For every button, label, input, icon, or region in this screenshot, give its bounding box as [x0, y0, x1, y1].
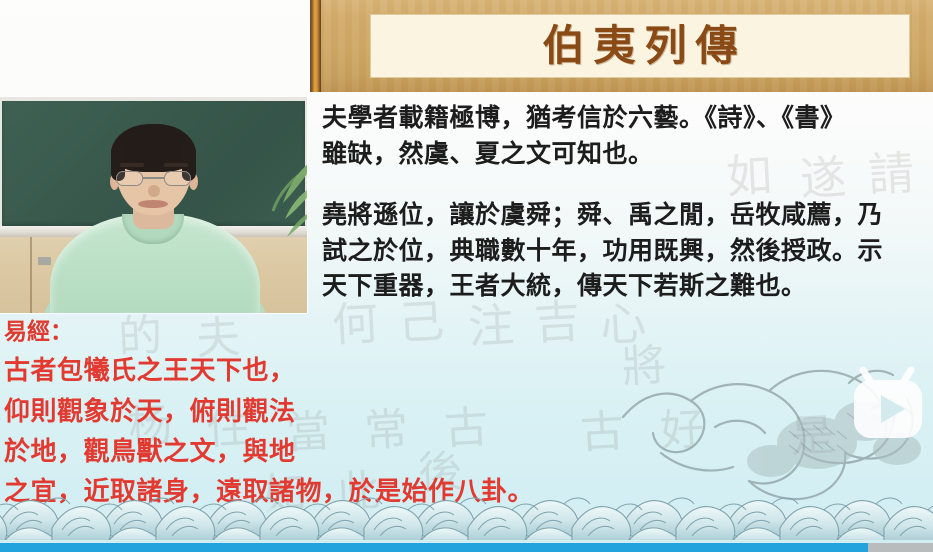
speaker-eyebrow [120, 163, 144, 167]
speaker-eyebrow [164, 163, 188, 167]
passage-line: 雖缺，然虞、夏之文可知也。 [322, 136, 933, 172]
quote-line: 於地，觀鳥獸之文，與地 [4, 432, 704, 472]
speaker-nose [148, 185, 160, 197]
speaker-video-thumbnail[interactable] [0, 97, 307, 313]
passage-line: 天下重器，王者大統，傳天下若斯之難也。 [322, 268, 933, 304]
passage-line: 夫學者載籍極博，猶考信於六藝。《詩》、《書》 [322, 100, 933, 136]
title-banner: 伯夷列傳 [310, 0, 933, 92]
video-progress-bar[interactable] [0, 543, 933, 552]
quote-line: 之宜，近取諸身，遠取諸物，於是始作八卦。 [4, 472, 704, 512]
title-panel: 伯夷列傳 [370, 14, 910, 78]
quote-block: 易經： 古者包犧氏之王天下也， 仰則觀象於天，俯則觀法 於地，觀鳥獸之文，與地 … [4, 320, 704, 512]
glasses-icon [116, 171, 191, 186]
quote-source-label: 易經： [4, 320, 704, 345]
play-logo-icon[interactable] [846, 366, 930, 442]
cabinet-divider [30, 237, 32, 313]
slide-stage: 何己注吉心古好的夫如遂請杨住當常古將後是如此 伯夷列傳 [0, 0, 933, 552]
scroll-rod-icon [310, 0, 321, 92]
cabinet-handle [38, 257, 51, 265]
passage-block: 夫學者載籍極博，猶考信於六藝。《詩》、《書》 雖缺，然虞、夏之文可知也。 堯將遜… [322, 100, 933, 304]
quote-line: 古者包犧氏之王天下也， [4, 351, 704, 391]
glasses-lens [116, 171, 143, 186]
passage-line: 試之於位，典職數十年，功用既興，然後授政。示 [322, 233, 933, 269]
plant-icon [249, 159, 307, 249]
page-title: 伯夷列傳 [533, 25, 746, 67]
glasses-lens [164, 171, 191, 186]
video-progress-fill [0, 543, 868, 552]
quote-line: 仰則觀象於天，俯則觀法 [4, 392, 704, 432]
passage-spacer [322, 171, 933, 197]
glasses-bridge [143, 177, 164, 179]
passage-line: 堯將遜位，讓於虞舜；舜、禹之閒，岳牧咸薦，乃 [322, 197, 933, 233]
speaker-mouth [138, 200, 168, 208]
